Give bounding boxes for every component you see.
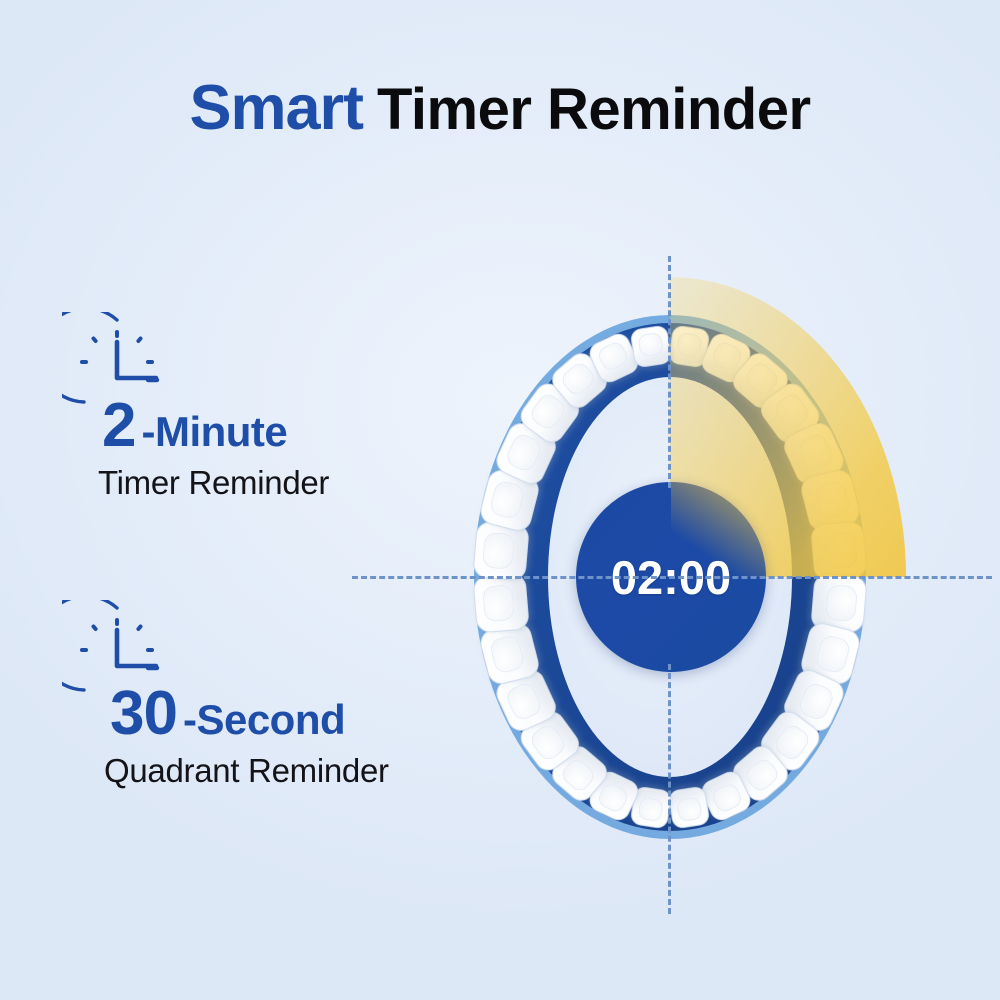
feature-number: 30 xyxy=(110,679,177,748)
infographic-canvas: SmartTimer Reminder 2-Minute Timer Remin… xyxy=(0,0,1000,1000)
feature-subtitle: Timer Reminder xyxy=(98,464,329,502)
feature-unit: -Second xyxy=(183,696,345,743)
quadrant-divider-horizontal xyxy=(352,576,992,579)
feature-subtitle: Quadrant Reminder xyxy=(104,752,389,790)
tooth xyxy=(630,325,672,368)
title-rest-words: Timer Reminder xyxy=(377,77,811,142)
feature-unit: -Minute xyxy=(141,408,287,455)
quadrant-divider-vertical-top xyxy=(668,256,671,488)
page-title: SmartTimer Reminder xyxy=(0,72,1000,144)
title-accent-word: Smart xyxy=(189,73,363,143)
tooth xyxy=(668,786,710,829)
quadrant-divider-vertical-bottom xyxy=(668,664,671,914)
tooth xyxy=(473,573,529,633)
feature-number: 2 xyxy=(102,391,135,460)
feature-headline: 2-Minute xyxy=(102,390,287,461)
feature-headline: 30-Second xyxy=(110,678,345,749)
